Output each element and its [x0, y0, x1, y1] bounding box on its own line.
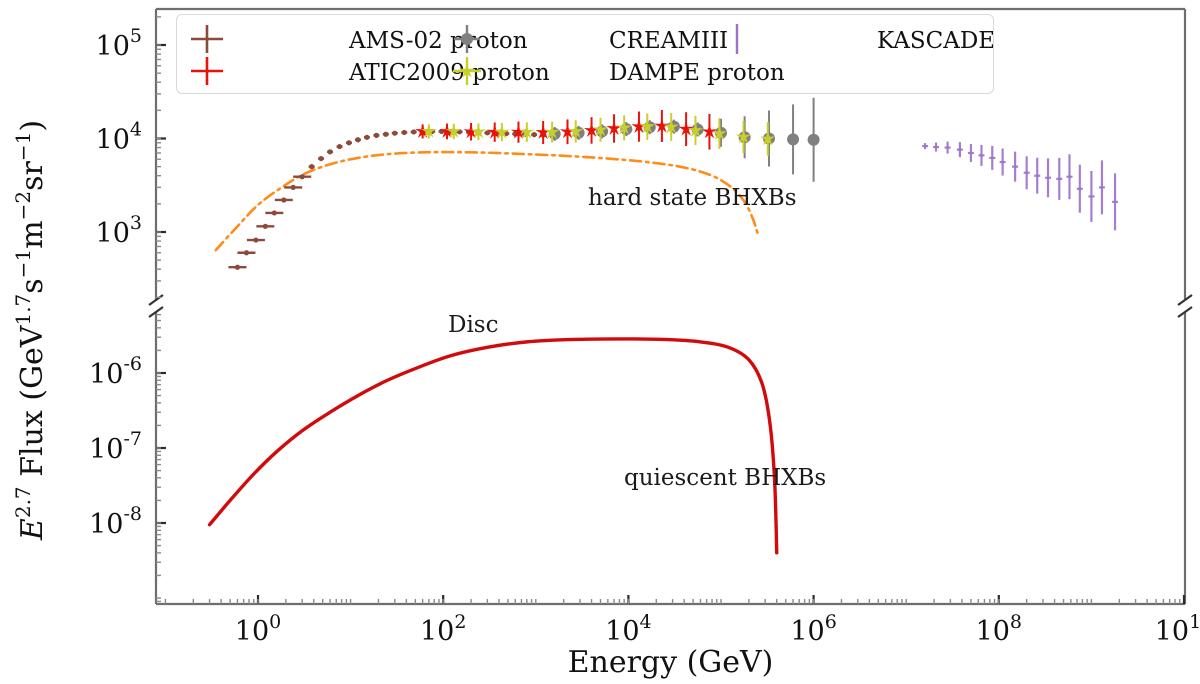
legend-svg: AMS-02 protonATIC2009 protonCREAMIIIDAMP… [177, 15, 993, 93]
y-tick-label: 10-8 [89, 503, 142, 540]
series-kascade-light [922, 142, 1118, 231]
y-tick-label: 104 [96, 119, 142, 156]
x-tick-label: 104 [605, 611, 651, 647]
x-tick-label: 106 [790, 611, 836, 647]
annotation-hard-state-bhxbs: hard state BHXBs [588, 185, 797, 211]
x-tick-label: 1010 [1155, 611, 1200, 647]
y-tick-label: 103 [96, 212, 142, 249]
y-tick-label: 105 [96, 25, 142, 62]
legend-box: AMS-02 protonATIC2009 protonCREAMIIIDAMP… [176, 14, 994, 94]
x-tick-label: 100 [235, 611, 281, 647]
legend-label: ATIC2009 proton [348, 60, 550, 86]
x-tick-label: 108 [976, 611, 1022, 647]
labels-layer: 100102104106108101010510410310-610-710-8… [11, 25, 1200, 680]
legend-item-kascade-light[interactable]: KASCADE light [737, 24, 993, 54]
legend-label: AMS-02 proton [348, 28, 528, 54]
legend-label: KASCADE light [877, 28, 993, 54]
x-axis-title: Energy (GeV) [568, 645, 774, 680]
plot-svg: 100102104106108101010510410310-610-710-8… [0, 0, 1200, 684]
axes-layer [149, 9, 1192, 604]
series-creamiii [549, 98, 820, 182]
y-axis-title: E2.7 Flux (GeV1.7s−1m−2sr−1) [11, 120, 50, 541]
legend-item-atic2009-proton[interactable]: ATIC2009 proton [191, 57, 550, 86]
annotation-disc: Disc [448, 312, 498, 338]
figure-canvas: 100102104106108101010510410310-610-710-8… [0, 0, 1200, 684]
legend-label: DAMPE proton [609, 60, 785, 86]
annotation-quiescent-bhxbs: quiescent BHXBs [624, 465, 826, 491]
curve-disc-quiescent-bhxbs [210, 339, 777, 553]
x-tick-label: 102 [420, 611, 466, 647]
legend-label: CREAMIII [609, 28, 728, 54]
series-ams-02-proton [228, 129, 546, 270]
y-tick-label: 10-6 [89, 353, 142, 390]
y-tick-label: 10-7 [89, 428, 142, 465]
